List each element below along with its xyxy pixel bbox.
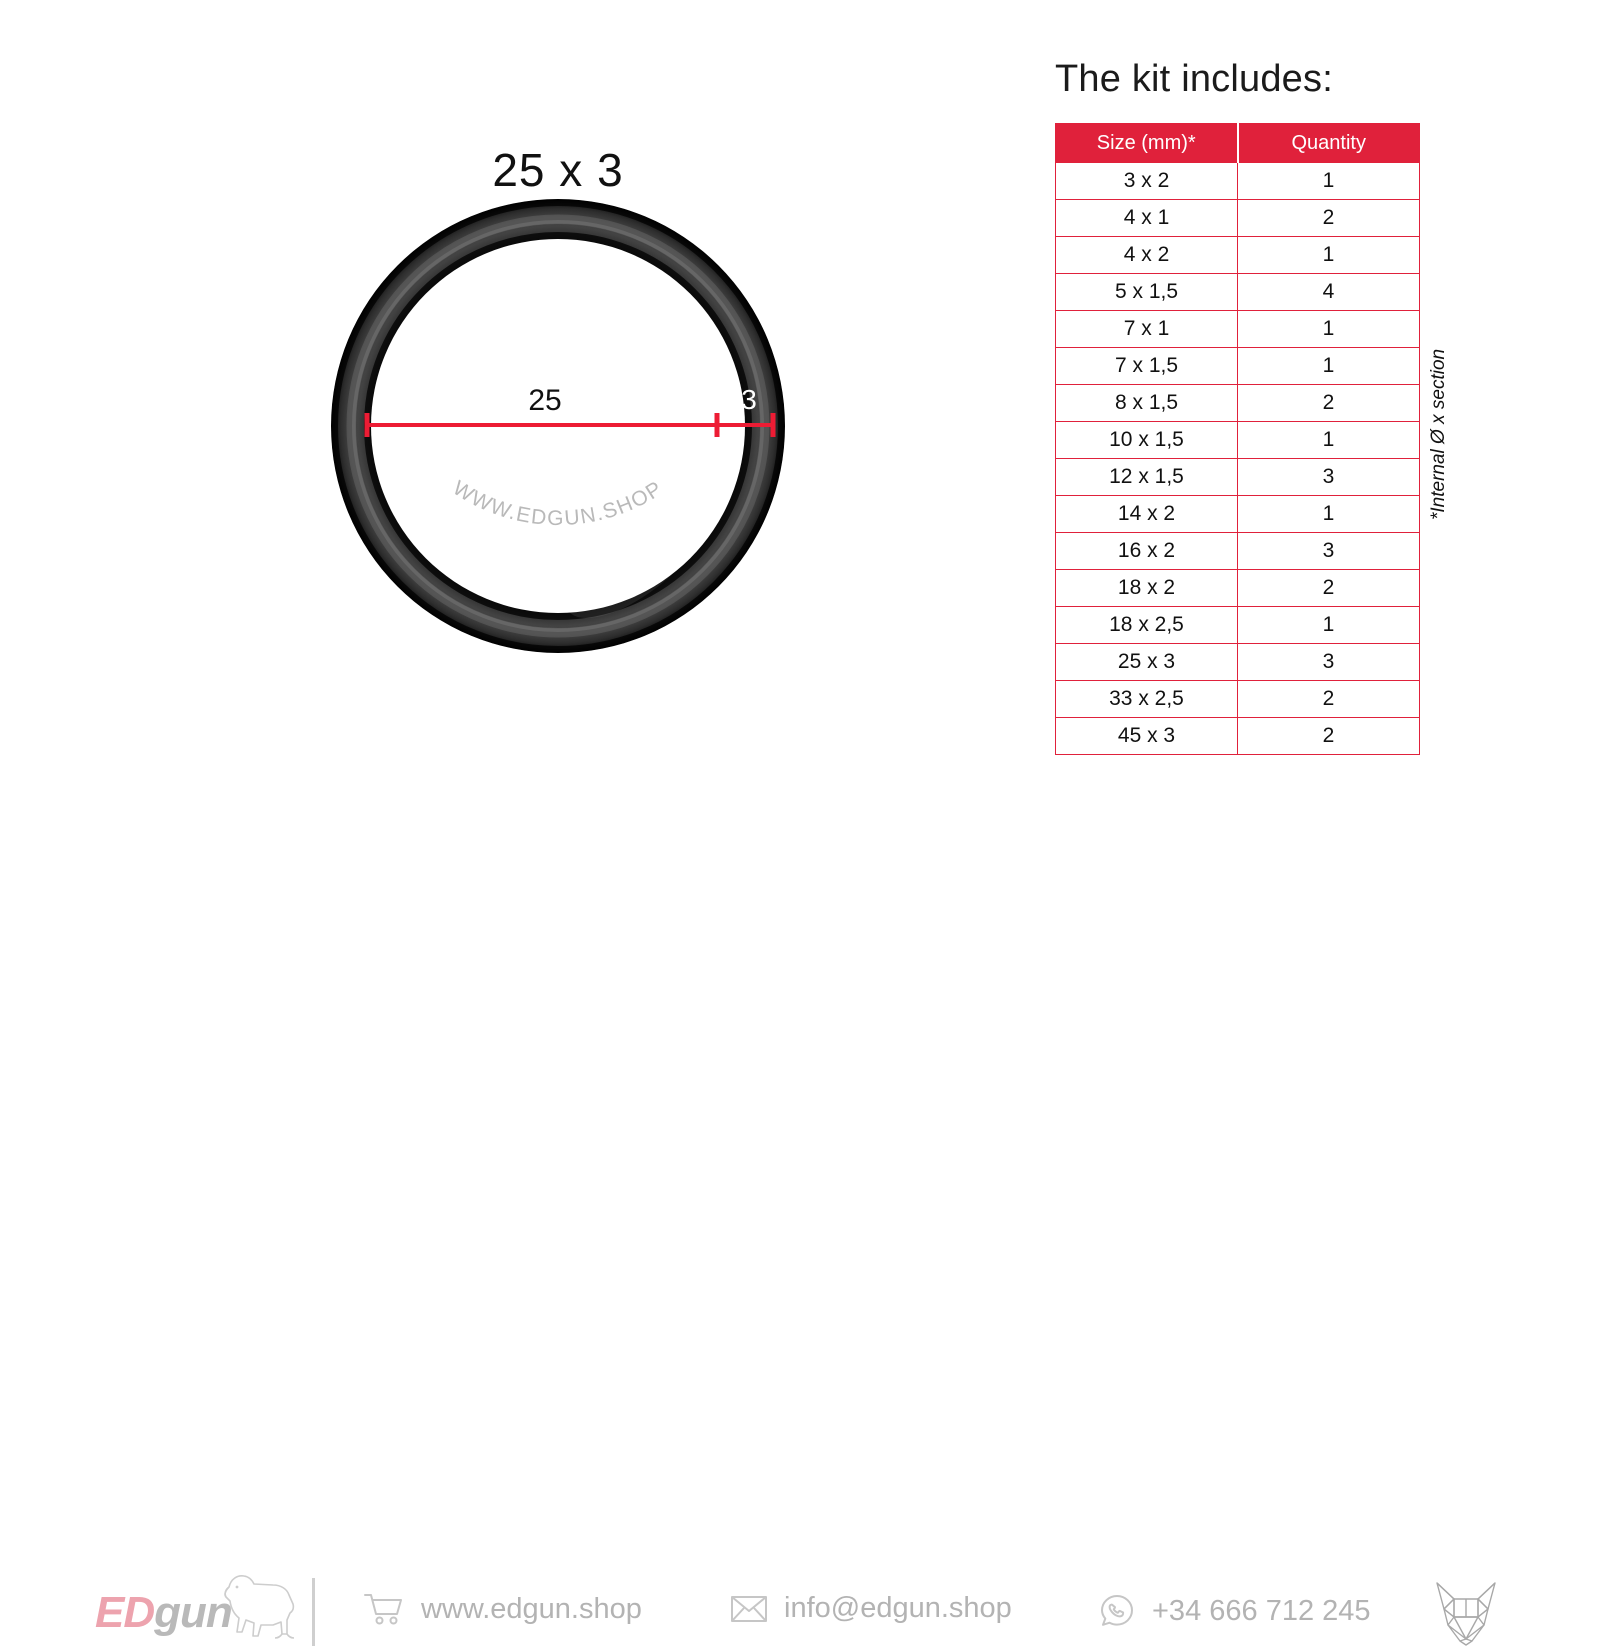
cell-size: 18 x 2,5 [1056,607,1238,644]
table-row: 5 x 1,54 [1056,274,1420,311]
cell-size: 25 x 3 [1056,644,1238,681]
footer-divider [312,1578,315,1646]
footer-website-item[interactable]: www.edgun.shop [363,1592,642,1626]
cell-size: 18 x 2 [1056,570,1238,607]
cell-size: 14 x 2 [1056,496,1238,533]
shopping-cart-icon [363,1592,405,1626]
cell-size: 7 x 1 [1056,311,1238,348]
footer-bar: EDgun www.edgun.sh [0,780,1600,900]
cell-quantity: 1 [1238,163,1420,200]
cell-quantity: 3 [1238,459,1420,496]
oring-graphic: WWW.EDGUN.SHOP [318,186,798,666]
whatsapp-icon [1098,1592,1136,1630]
cell-quantity: 3 [1238,644,1420,681]
table-row: 8 x 1,52 [1056,385,1420,422]
envelope-icon [730,1594,768,1624]
cell-quantity: 2 [1238,681,1420,718]
cell-size: 33 x 2,5 [1056,681,1238,718]
column-header-size: Size (mm)* [1056,124,1238,163]
table-row: 45 x 32 [1056,718,1420,755]
table-row: 10 x 1,51 [1056,422,1420,459]
table-row: 25 x 33 [1056,644,1420,681]
cell-quantity: 1 [1238,607,1420,644]
cell-quantity: 1 [1238,422,1420,459]
column-header-quantity: Quantity [1238,124,1420,163]
page-canvas: 25 x 3 [0,0,1600,900]
cell-quantity: 4 [1238,274,1420,311]
cell-quantity: 2 [1238,200,1420,237]
inner-diameter-label: 25 [500,384,590,418]
cell-quantity: 3 [1238,533,1420,570]
dog-icon [215,1570,301,1644]
footer-website-text: www.edgun.shop [421,1593,642,1626]
section-width-label: 3 [727,384,771,416]
cell-size: 5 x 1,5 [1056,274,1238,311]
cell-quantity: 1 [1238,237,1420,274]
table-row: 18 x 2,51 [1056,607,1420,644]
cell-quantity: 2 [1238,718,1420,755]
cell-size: 16 x 2 [1056,533,1238,570]
table-row: 4 x 12 [1056,200,1420,237]
cell-quantity: 1 [1238,496,1420,533]
table-row: 7 x 1,51 [1056,348,1420,385]
cell-size: 3 x 2 [1056,163,1238,200]
footer-email-text: info@edgun.shop [784,1592,1012,1625]
table-row: 7 x 11 [1056,311,1420,348]
table-row: 16 x 23 [1056,533,1420,570]
cell-size: 45 x 3 [1056,718,1238,755]
footer-email-item[interactable]: info@edgun.shop [730,1592,1012,1625]
table-header-row: Size (mm)* Quantity [1056,124,1420,163]
oring-illustration-panel: 25 x 3 [0,0,1020,760]
table-row: 18 x 22 [1056,570,1420,607]
table-row: 12 x 1,53 [1056,459,1420,496]
cell-quantity: 2 [1238,570,1420,607]
table-row: 14 x 21 [1056,496,1420,533]
cell-size: 10 x 1,5 [1056,422,1238,459]
table-row: 33 x 2,52 [1056,681,1420,718]
footer-phone-item[interactable]: +34 666 712 245 [1098,1592,1371,1630]
cell-size: 7 x 1,5 [1056,348,1238,385]
edgun-logo: EDgun [95,1570,295,1650]
oring-figure: WWW.EDGUN.SHOP [318,186,798,666]
footer-phone-text: +34 666 712 245 [1152,1595,1371,1628]
kit-includes-heading: The kit includes: [1055,58,1333,101]
cell-size: 8 x 1,5 [1056,385,1238,422]
kit-contents-table: Size (mm)* Quantity 3 x 214 x 124 x 215 … [1055,123,1420,755]
edgun-wordmark: EDgun [95,1588,232,1638]
cell-quantity: 2 [1238,385,1420,422]
wolf-head-icon [1424,1575,1508,1651]
table-footnote: *Internal Ø x section [1428,349,1450,520]
table-row: 4 x 21 [1056,237,1420,274]
cell-quantity: 1 [1238,311,1420,348]
cell-size: 12 x 1,5 [1056,459,1238,496]
logo-text-ed: ED [95,1588,154,1637]
cell-size: 4 x 2 [1056,237,1238,274]
cell-size: 4 x 1 [1056,200,1238,237]
table-row: 3 x 21 [1056,163,1420,200]
cell-quantity: 1 [1238,348,1420,385]
